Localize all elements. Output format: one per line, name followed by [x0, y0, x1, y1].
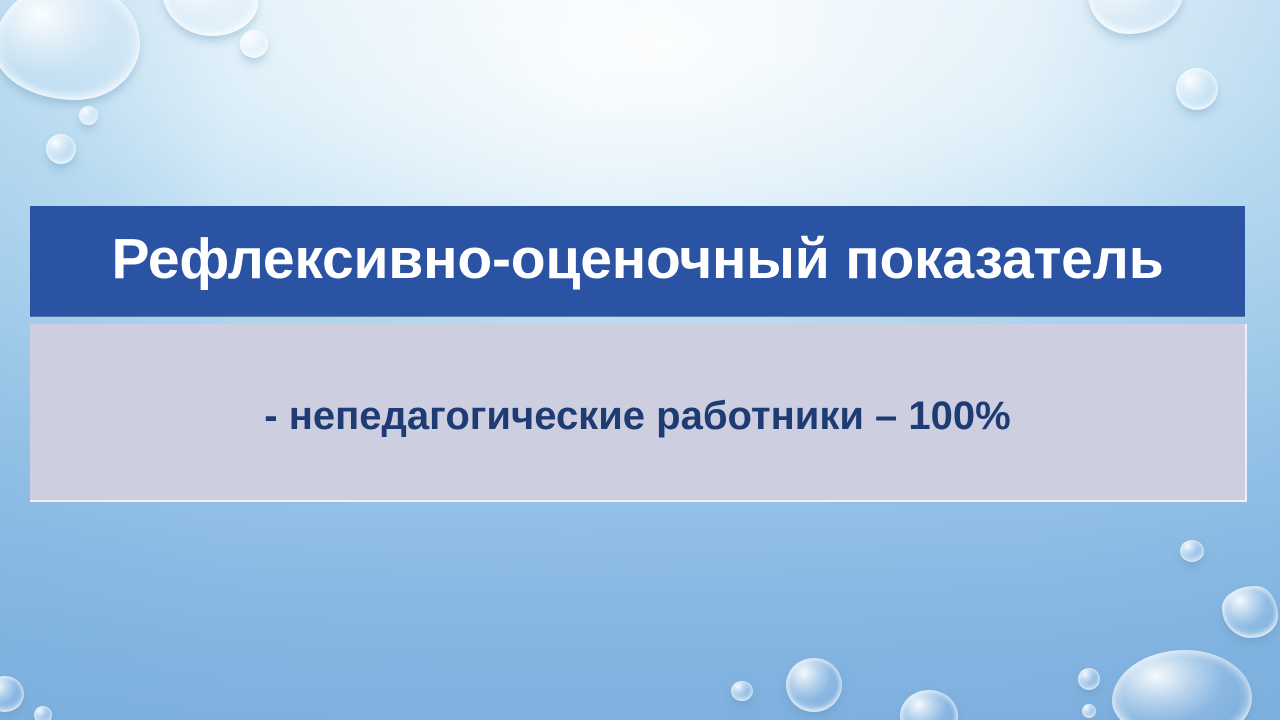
droplet-icon	[1176, 68, 1218, 110]
droplet-icon	[46, 134, 76, 164]
page-title: Рефлексивно-оценочный показатель	[111, 231, 1163, 292]
droplet-icon	[1088, 0, 1184, 34]
droplet-icon	[79, 106, 98, 125]
droplet-icon	[1082, 704, 1096, 718]
slide-body-text: - непедагогические работники – 100%	[264, 393, 1010, 439]
droplet-icon	[240, 30, 268, 58]
droplet-icon	[1112, 650, 1252, 720]
droplet-icon	[162, 0, 258, 36]
droplet-icon	[786, 658, 842, 712]
droplet-icon	[34, 706, 52, 720]
droplet-icon	[731, 681, 753, 701]
droplet-icon	[1180, 540, 1204, 562]
slide-content-box: - непедагогические работники – 100%	[30, 324, 1247, 502]
droplet-icon	[0, 0, 140, 100]
slide-title-band: Рефлексивно-оценочный показатель	[30, 206, 1245, 316]
droplet-icon	[1222, 586, 1278, 638]
droplet-icon	[900, 690, 958, 720]
droplet-icon	[0, 676, 24, 712]
slide-canvas: Рефлексивно-оценочный показатель - непед…	[0, 0, 1280, 720]
droplet-icon	[1078, 668, 1100, 690]
